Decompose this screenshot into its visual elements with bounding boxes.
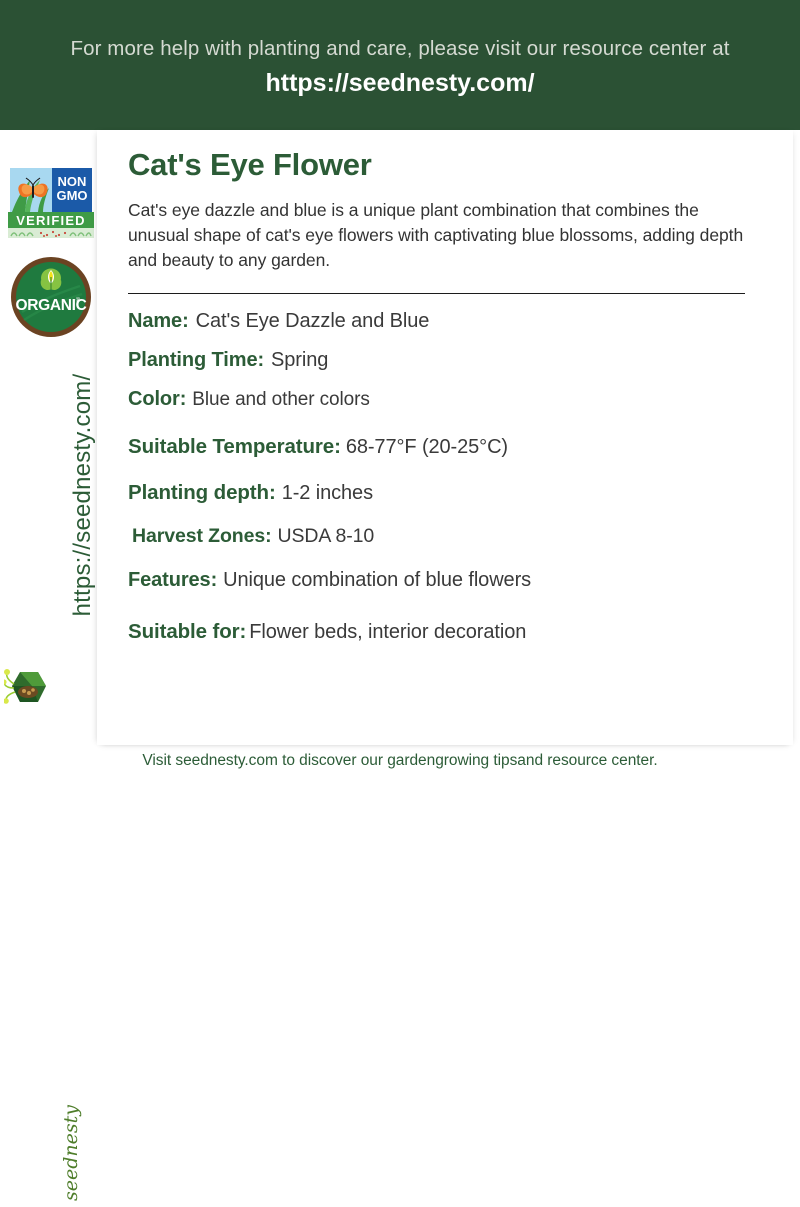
header-banner: For more help with planting and care, pl… — [0, 0, 800, 130]
footer: Visit seednesty.com to discover our gard… — [0, 752, 800, 800]
brand-logo: seednesty — [2, 638, 94, 746]
spec-row-planting-depth: Planting depth: 1-2 inches — [128, 481, 777, 505]
spec-label: Suitable Temperature: — [128, 435, 341, 459]
spec-label: Planting depth: — [128, 481, 276, 505]
left-sidebar: NON GMO VERIFIED — [0, 130, 100, 800]
spec-row-color: Color: Blue and other colors — [128, 388, 777, 411]
spec-label: Features: — [128, 569, 217, 592]
spec-label: Name: — [128, 310, 189, 333]
product-info-card: Cat's Eye Flower Cat's eye dazzle and bl… — [97, 130, 793, 745]
spec-value: Unique combination of blue flowers — [223, 569, 531, 592]
non-gmo-verified-badge-icon: NON GMO VERIFIED — [8, 166, 94, 238]
spec-label: Harvest Zones: — [132, 525, 271, 548]
header-help-text: For more help with planting and care, pl… — [70, 37, 729, 62]
spec-value: 68-77°F (20-25°C) — [346, 436, 508, 459]
spec-label: Planting Time: — [128, 349, 264, 372]
spec-value: Spring — [271, 349, 328, 372]
spec-row-planting-time: Planting Time: Spring — [128, 349, 777, 372]
spec-value: Flower beds, interior decoration — [249, 621, 526, 644]
spec-row-suitable-for: Suitable for: Flower beds, interior deco… — [128, 620, 777, 644]
spec-row-features: Features: Unique combination of blue flo… — [128, 569, 777, 592]
spec-value: Cat's Eye Dazzle and Blue — [196, 310, 430, 333]
organic-seal-icon: ORGANIC ® — [10, 256, 92, 338]
header-website-url[interactable]: https://seednesty.com/ — [265, 68, 534, 99]
page-title: Cat's Eye Flower — [128, 130, 777, 183]
svg-text:®: ® — [76, 297, 81, 304]
spec-list: Name: Cat's Eye Dazzle and Blue Planting… — [128, 310, 777, 644]
brand-name-text: seednesty — [56, 1099, 86, 1207]
svg-text:GMO: GMO — [56, 188, 87, 203]
spec-value: USDA 8-10 — [277, 525, 374, 548]
spec-value: Blue and other colors — [192, 389, 369, 411]
spec-row-suitable-temperature: Suitable Temperature: 68-77°F (20-25°C) — [128, 435, 777, 459]
spec-label: Suitable for: — [128, 620, 246, 644]
spec-row-harvest-zones: Harvest Zones: USDA 8-10 — [128, 525, 777, 548]
spec-value: 1-2 inches — [282, 482, 373, 505]
spec-label: Color: — [128, 388, 186, 411]
product-description: Cat's eye dazzle and blue is a unique pl… — [128, 198, 746, 273]
footer-text: Visit seednesty.com to discover our gard… — [142, 752, 657, 770]
svg-text:NON: NON — [58, 174, 87, 189]
seed-nest-icon — [4, 666, 52, 712]
spec-row-name: Name: Cat's Eye Dazzle and Blue — [128, 310, 777, 333]
svg-text:VERIFIED: VERIFIED — [16, 213, 86, 228]
section-divider — [128, 293, 745, 294]
